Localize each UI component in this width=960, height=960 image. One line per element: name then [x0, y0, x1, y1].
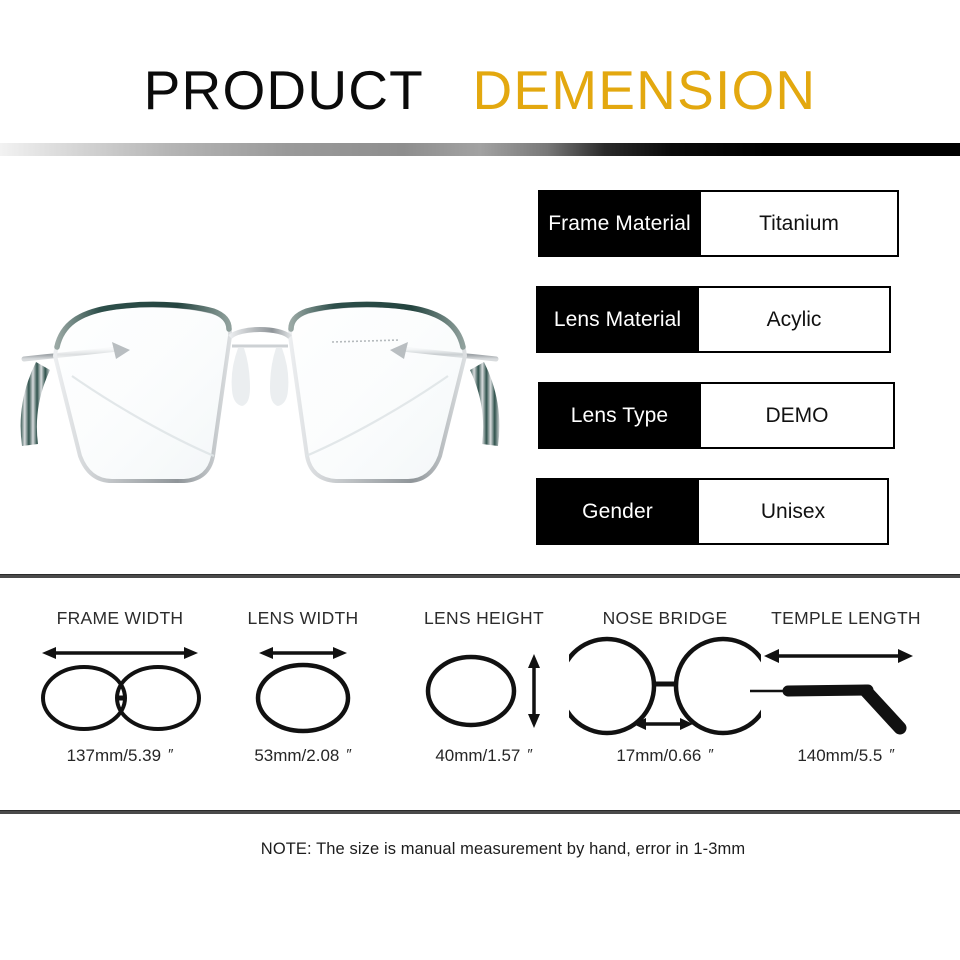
dimension-inch-mark: ″	[520, 746, 532, 763]
dimension-value-mm: 140mm/5.5	[797, 746, 882, 765]
dimension-value-mm: 40mm/1.57	[435, 746, 520, 765]
dimension-value-mm: 53mm/2.08	[254, 746, 339, 765]
spec-key: Lens Material	[536, 286, 699, 353]
measurement-note-text: NOTE: The size is manual measurement by …	[215, 840, 745, 859]
header: PRODUCT DEMENSION	[0, 0, 960, 143]
spec-value: DEMO	[701, 382, 895, 449]
dimension-item-nose-bridge: NOSE BRIDGE 17mm/0.66″	[569, 578, 761, 810]
spec-key: Lens Type	[538, 382, 701, 449]
spec-key: Frame Material	[538, 190, 701, 257]
spec-value: Acylic	[699, 286, 891, 353]
dimension-value: 40mm/1.57″	[388, 746, 580, 766]
spec-table: Frame Material Titanium Lens Material Ac…	[520, 160, 960, 570]
lens-height-icon	[388, 636, 580, 736]
product-photo: IP TITANIUM	[0, 156, 520, 574]
dimension-label: LENS WIDTH	[207, 608, 399, 629]
dimension-value: 140mm/5.5″	[750, 746, 942, 766]
dimension-label: FRAME WIDTH	[24, 608, 216, 629]
temple-length-icon	[750, 636, 942, 736]
dimension-value-mm: 17mm/0.66	[616, 746, 701, 765]
spec-row-lens-type: Lens Type DEMO	[538, 382, 895, 449]
dimension-item-temple-length: TEMPLE LENGTH 140mm/5.5″	[750, 578, 942, 810]
nose-bridge-icon	[569, 636, 761, 736]
dimension-inch-mark: ″	[161, 746, 173, 763]
dimension-value: 53mm/2.08″	[207, 746, 399, 766]
temple-tip-right	[470, 362, 499, 446]
dimension-item-lens-height: LENS HEIGHT 40mm/1.57″	[388, 578, 580, 810]
spec-row-lens-material: Lens Material Acylic	[536, 286, 891, 353]
frame-width-icon	[24, 636, 216, 736]
dimension-inch-mark: ″	[339, 746, 351, 763]
measurement-note: NOTE: The size is manual measurement by …	[0, 840, 960, 859]
spec-row-gender: Gender Unisex	[536, 478, 889, 545]
product-dimension-infographic: PRODUCT DEMENSION	[0, 0, 960, 960]
dimension-value-mm: 137mm/5.39	[67, 746, 162, 765]
eyeglasses-illustration	[0, 156, 520, 574]
spec-key: Gender	[536, 478, 699, 545]
temple-tip-left	[21, 362, 50, 446]
dimension-label: TEMPLE LENGTH	[750, 608, 942, 629]
dimension-value: 137mm/5.39″	[24, 746, 216, 766]
lens-width-icon	[207, 636, 399, 736]
title-part-product: PRODUCT	[144, 59, 423, 121]
spec-row-frame-material: Frame Material Titanium	[538, 190, 899, 257]
dimension-strip: FRAME WIDTH 137mm/5.39″	[0, 578, 960, 810]
dimension-item-lens-width: LENS WIDTH 53mm/2.08″	[207, 578, 399, 810]
page-title: PRODUCT DEMENSION	[0, 58, 960, 122]
spec-value: Titanium	[701, 190, 899, 257]
dimension-label: LENS HEIGHT	[388, 608, 580, 629]
dimension-item-frame-width: FRAME WIDTH 137mm/5.39″	[24, 578, 216, 810]
header-gradient-rule	[0, 143, 960, 156]
title-part-demension: DEMENSION	[472, 59, 816, 121]
divider-bottom	[0, 810, 960, 814]
spec-value: Unisex	[699, 478, 889, 545]
dimension-value: 17mm/0.66″	[569, 746, 761, 766]
dimension-inch-mark: ″	[882, 746, 894, 763]
dimension-inch-mark: ″	[701, 746, 713, 763]
eyeglasses-image	[0, 156, 520, 574]
dimension-label: NOSE BRIDGE	[569, 608, 761, 629]
